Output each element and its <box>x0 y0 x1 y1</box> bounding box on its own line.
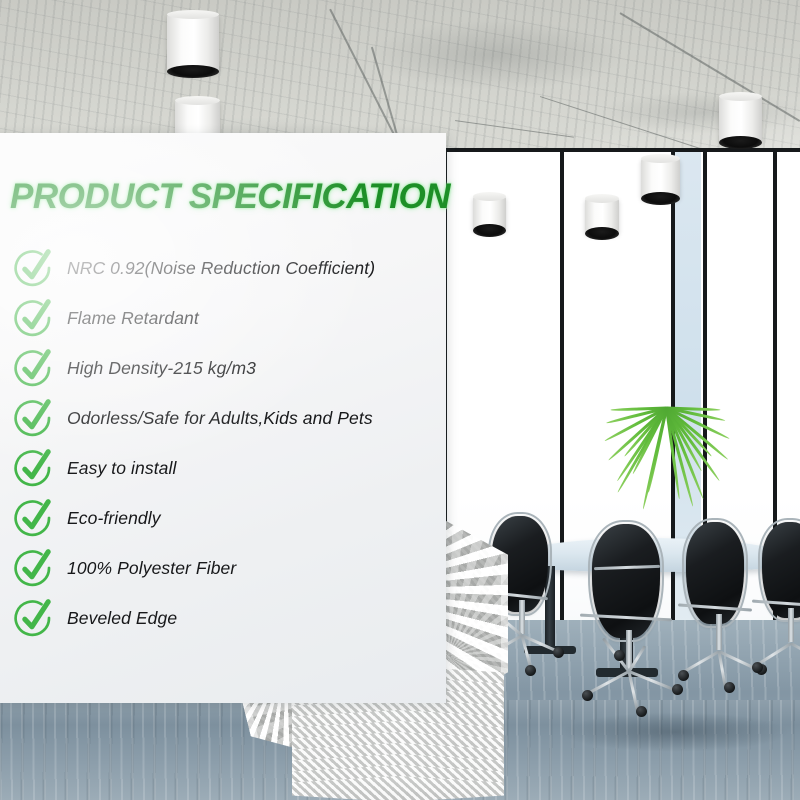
office-chair-far-right-base <box>756 608 800 688</box>
spec-item: Flame Retardant <box>14 293 434 343</box>
office-chair-right-base <box>682 614 758 694</box>
page-title: PRODUCT SPECIFICATION <box>10 177 450 217</box>
furniture-shadow <box>560 712 790 752</box>
ceiling-downlight-1 <box>167 14 219 72</box>
ceiling-downlight-5 <box>585 198 619 234</box>
office-chair-center-base <box>588 630 672 720</box>
chair-frame <box>682 518 748 628</box>
green-check-circle-icon <box>14 398 54 438</box>
ceiling-downlight-4 <box>641 158 680 199</box>
chair-post <box>788 608 794 642</box>
chair-caster <box>525 665 536 676</box>
spec-item: Odorless/Safe for Adults,Kids and Pets <box>14 393 434 443</box>
green-check-circle-icon <box>14 498 54 538</box>
office-chair-center <box>592 524 660 638</box>
specification-list: NRC 0.92(Noise Reduction Coefficient) Fl… <box>14 243 434 643</box>
green-check-circle-icon <box>14 298 54 338</box>
spec-label: Odorless/Safe for Adults,Kids and Pets <box>67 408 373 429</box>
spec-item: Easy to install <box>14 443 434 493</box>
spec-item: 100% Polyester Fiber <box>14 543 434 593</box>
ceiling-downlight-6 <box>473 196 506 231</box>
green-check-circle-icon <box>14 248 54 288</box>
specification-panel: PRODUCT SPECIFICATION NRC 0.92(Noise Red… <box>0 133 446 703</box>
spec-label: Flame Retardant <box>67 308 199 329</box>
spec-label: 100% Polyester Fiber <box>67 558 236 579</box>
green-check-circle-icon <box>14 598 54 638</box>
chair-caster <box>724 682 735 693</box>
green-check-circle-icon <box>14 348 54 388</box>
chair-post <box>519 600 525 634</box>
office-chair-right <box>686 522 744 624</box>
spec-label: NRC 0.92(Noise Reduction Coefficient) <box>67 258 375 279</box>
spec-label: Eco-friendly <box>67 508 161 529</box>
chair-caster <box>678 670 689 681</box>
chair-frame <box>758 518 800 622</box>
spec-item: NRC 0.92(Noise Reduction Coefficient) <box>14 243 434 293</box>
ceiling-downlight-3 <box>719 96 762 143</box>
spec-item: Beveled Edge <box>14 593 434 643</box>
chair-caster <box>582 690 593 701</box>
product-scene: PRODUCT SPECIFICATION NRC 0.92(Noise Red… <box>0 0 800 800</box>
spec-label: High Density-215 kg/m3 <box>67 358 256 379</box>
chair-frame <box>588 520 664 642</box>
chair-caster <box>752 662 763 673</box>
chair-caster <box>553 647 564 658</box>
chair-caster <box>614 650 625 661</box>
spec-item: High Density-215 kg/m3 <box>14 343 434 393</box>
green-check-circle-icon <box>14 448 54 488</box>
spec-label: Easy to install <box>67 458 176 479</box>
green-check-circle-icon <box>14 548 54 588</box>
spec-item: Eco-friendly <box>14 493 434 543</box>
office-chair-far-right <box>762 522 800 618</box>
spec-label: Beveled Edge <box>67 608 177 629</box>
chair-post <box>716 614 722 650</box>
